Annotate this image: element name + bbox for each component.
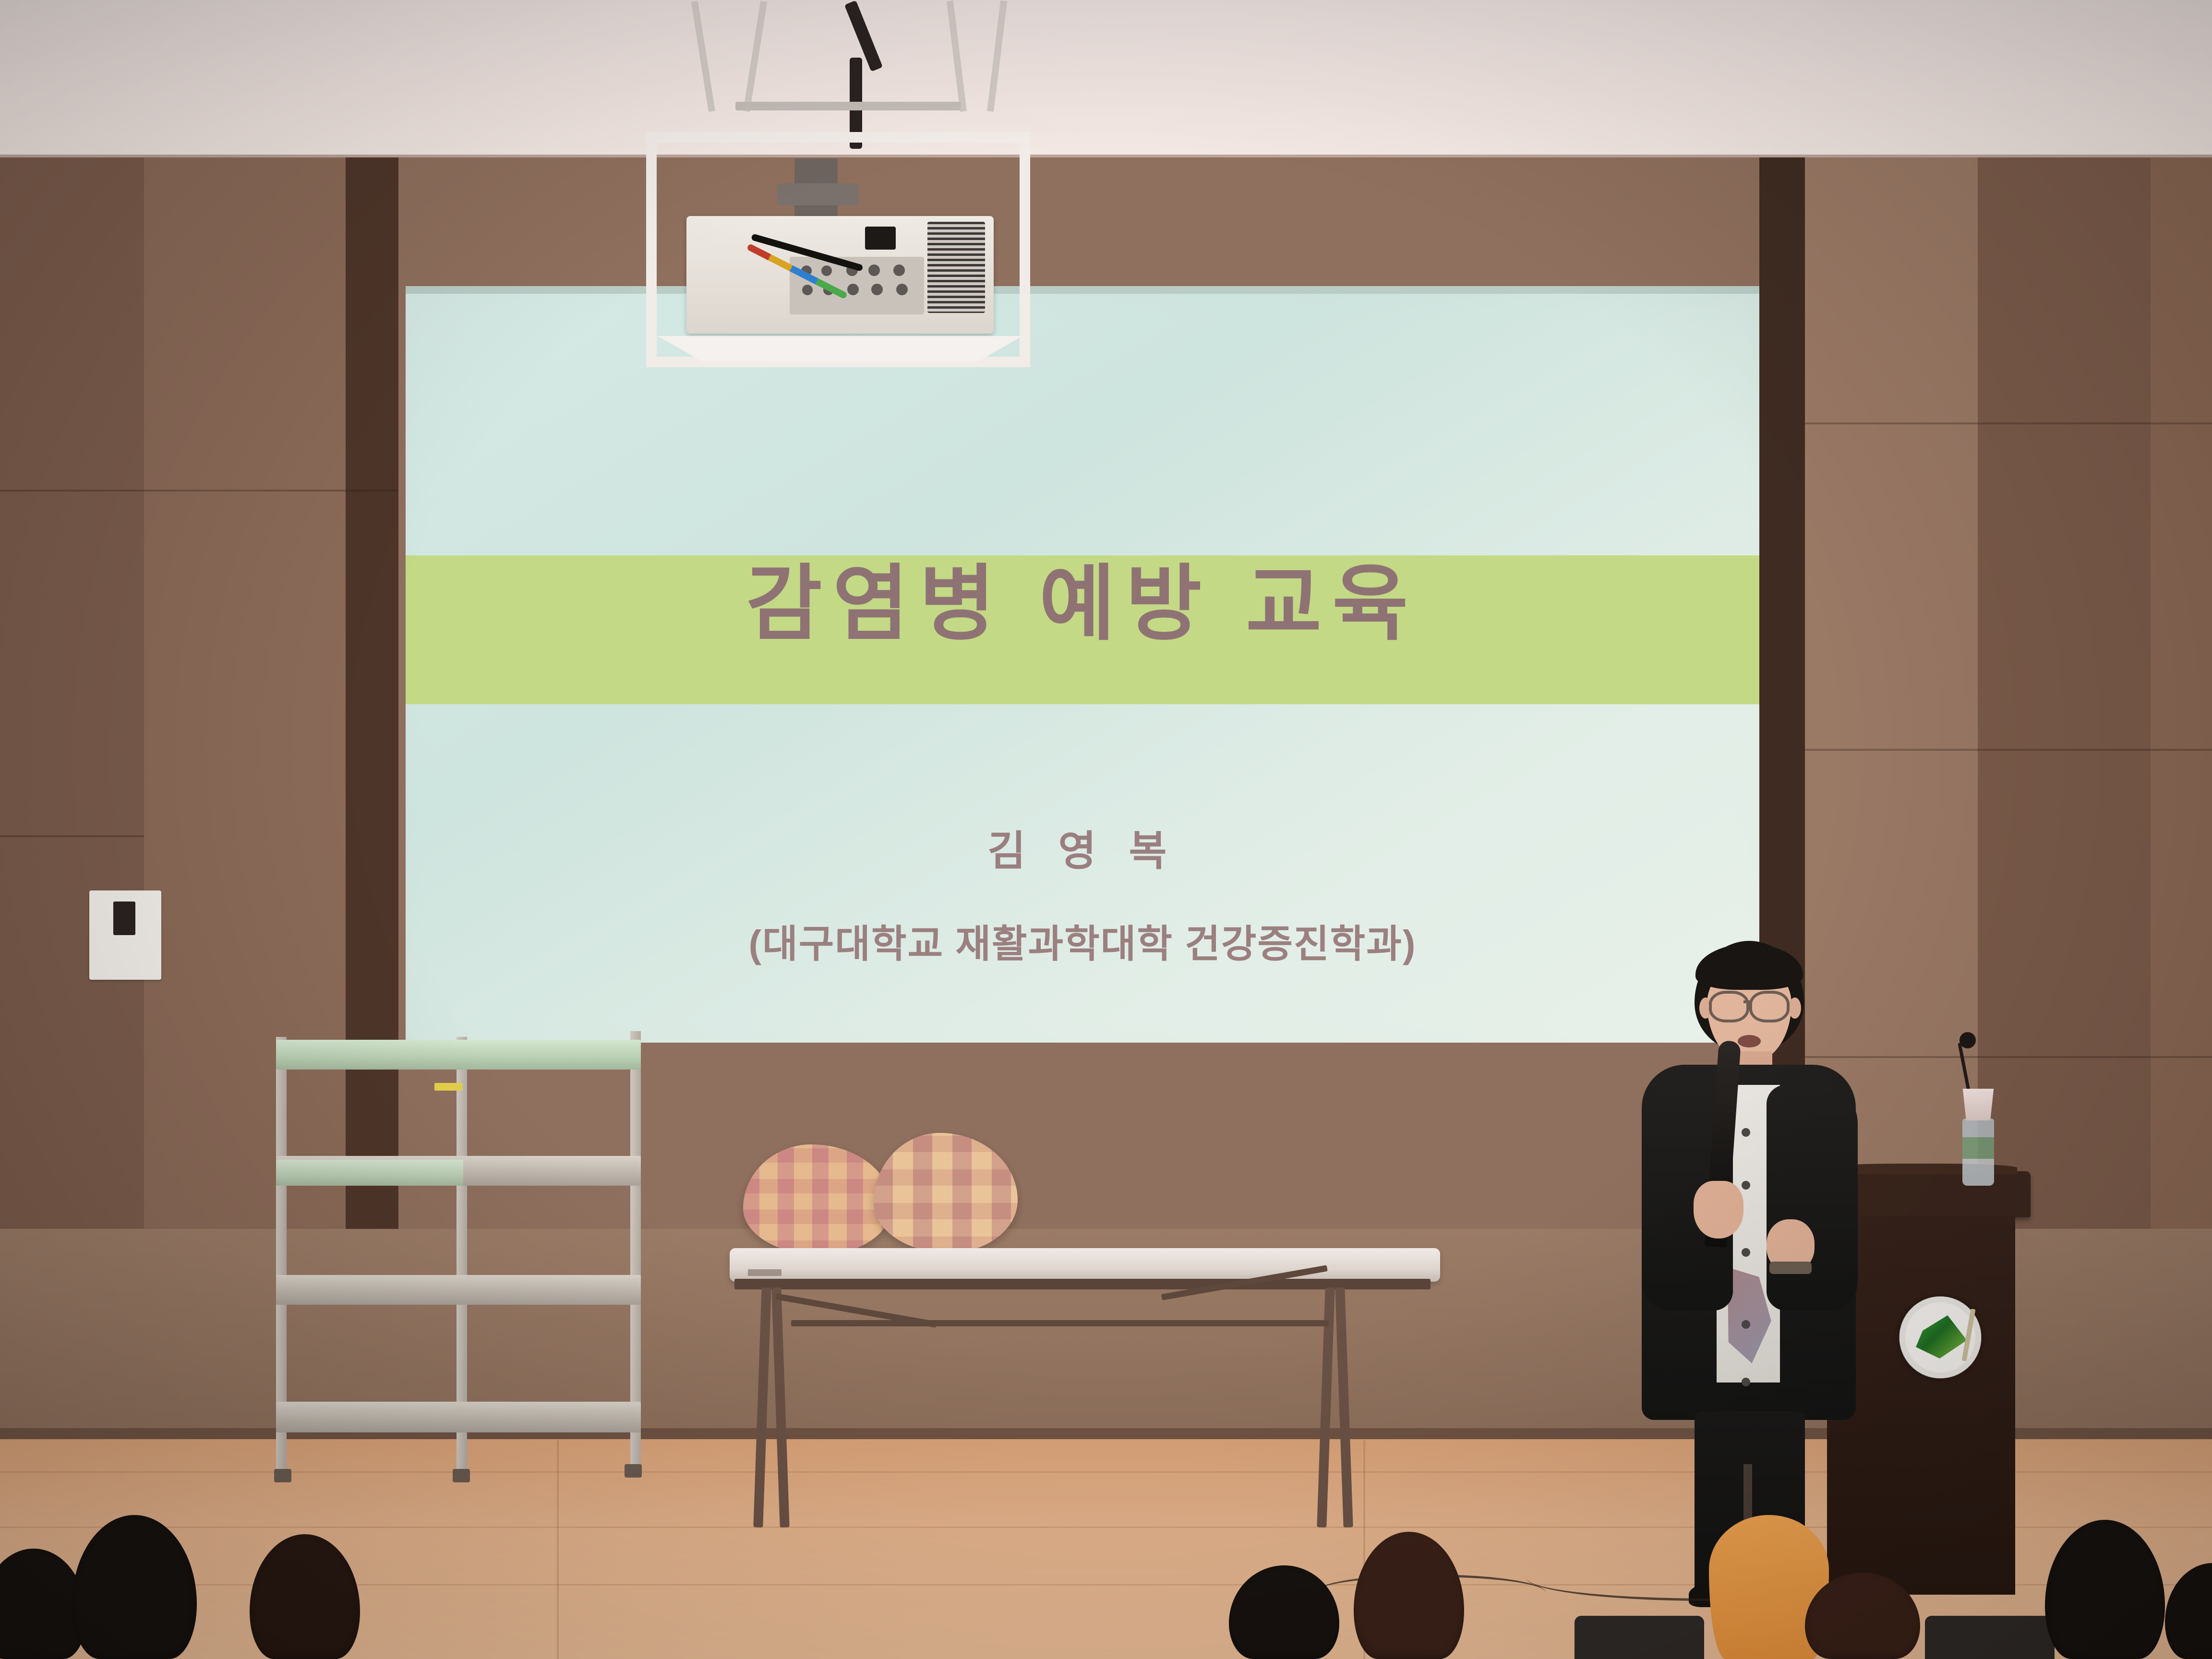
emblem-leaf-shape xyxy=(1912,1312,1969,1360)
projector-port xyxy=(896,284,908,295)
table-brand-label xyxy=(748,1269,781,1276)
projector-port xyxy=(847,284,859,295)
slide-affiliation: (대구대학교 재활과학대학 건강증진학과) xyxy=(406,913,1759,969)
projector-mount-rod xyxy=(743,1,767,112)
projector-vent xyxy=(927,222,985,313)
folding-table xyxy=(730,1248,1450,1575)
rack-shelf xyxy=(276,1275,641,1305)
presenter-wristwatch xyxy=(1769,1262,1812,1274)
presenter-mouth xyxy=(1738,1035,1761,1047)
seat-back xyxy=(1575,1616,1704,1659)
rack-foot xyxy=(625,1464,642,1478)
cardigan-button xyxy=(1742,1248,1750,1257)
rack-foot xyxy=(453,1469,470,1482)
projector-mount-rod xyxy=(691,1,715,112)
cardigan-button xyxy=(1742,1378,1750,1386)
wall-horizontal-seam xyxy=(1805,422,2212,424)
slide-title: 감염병 예방 교육 xyxy=(406,563,1759,645)
table-brace xyxy=(791,1320,1329,1326)
table-leg xyxy=(753,1287,771,1527)
ceiling xyxy=(0,0,2212,158)
rack-foot xyxy=(274,1469,291,1482)
wall-panel xyxy=(0,157,144,1358)
cardigan-button xyxy=(1742,1128,1750,1137)
projector-mount-rod xyxy=(947,0,967,112)
glasses-lens-left xyxy=(1709,991,1749,1022)
projector-port xyxy=(893,264,905,276)
projector-mount-plate xyxy=(777,183,858,205)
table-leg xyxy=(771,1287,789,1527)
gooseneck-microphone-head xyxy=(1960,1032,1976,1048)
projector-mount-rod xyxy=(987,0,1007,112)
rack-shelf xyxy=(276,1402,641,1432)
wall-horizontal-seam xyxy=(0,490,398,492)
rack-shelf xyxy=(276,1160,463,1186)
projector-port xyxy=(868,264,880,276)
ceiling-projector xyxy=(624,0,1056,317)
table-leg xyxy=(1335,1287,1353,1527)
water-bottle xyxy=(1962,1118,1994,1186)
presenter-fringe xyxy=(1695,944,1803,990)
projector-body xyxy=(686,216,994,334)
presenter-arm-right xyxy=(1767,1085,1858,1310)
projector-port xyxy=(871,284,883,295)
outlet-slot xyxy=(113,902,135,935)
projector-port xyxy=(802,285,813,295)
projector-port xyxy=(821,265,832,276)
projector-light-shroud xyxy=(658,336,1022,361)
rack-label-tag xyxy=(434,1083,462,1091)
projector-support-bar xyxy=(735,102,961,110)
projection-screen: 2017학년도 공중보건위기대응교육 감염병 예방 교육 김 영 복 (대구대학… xyxy=(406,294,1759,1043)
paper-cup xyxy=(1961,1089,1995,1120)
glasses-lens-right xyxy=(1749,991,1790,1022)
cardigan-button xyxy=(1742,1181,1750,1190)
slide-presenter-name: 김 영 복 xyxy=(406,817,1759,877)
cardigan-button xyxy=(1742,1320,1750,1329)
rack-shelf xyxy=(276,1040,641,1070)
seat-back xyxy=(1925,1616,2055,1659)
wall-horizontal-seam xyxy=(0,835,144,837)
glasses-bridge xyxy=(1743,1000,1750,1003)
wall-panel xyxy=(2151,157,2212,1358)
projector-connector-block xyxy=(865,227,896,250)
university-emblem xyxy=(1899,1296,1982,1379)
table-top xyxy=(730,1248,1440,1282)
emblem-ribbon xyxy=(1962,1309,1976,1361)
photo-scene: 2017학년도 공중보건위기대응교육 감염병 예방 교육 김 영 복 (대구대학… xyxy=(0,0,2212,1659)
presenter-ear xyxy=(1789,998,1801,1019)
storage-shelving-rack xyxy=(276,1037,655,1498)
presenter-hand-left xyxy=(1694,1181,1743,1238)
wall-horizontal-seam xyxy=(1805,749,2212,751)
